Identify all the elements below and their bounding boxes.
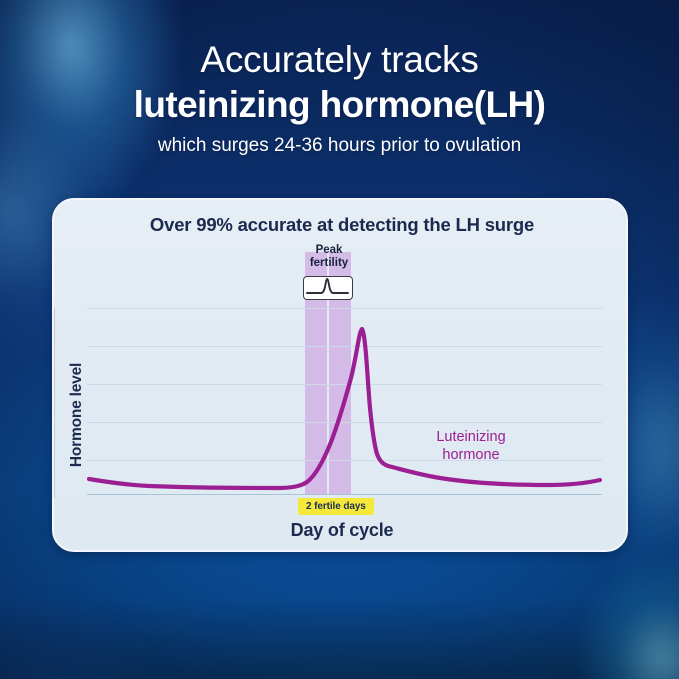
headline-subtext: which surges 24-36 hours prior to ovulat… bbox=[0, 133, 679, 159]
luteinizing-hormone-curve bbox=[87, 308, 602, 498]
y-axis-line bbox=[54, 308, 55, 498]
chart-title: Over 99% accurate at detecting the LH su… bbox=[54, 214, 628, 236]
peak-fertility-label: Peak fertility bbox=[259, 244, 399, 269]
series-label-line1: Luteinizing bbox=[436, 429, 505, 445]
x-axis-label: Day of cycle bbox=[54, 520, 628, 541]
infographic-canvas: Accurately tracks luteinizing hormone(LH… bbox=[0, 0, 679, 679]
headline-block: Accurately tracks luteinizing hormone(LH… bbox=[0, 38, 679, 159]
y-axis-label: Hormone level bbox=[68, 330, 88, 500]
fertile-days-badge: 2 fertile days bbox=[298, 498, 374, 515]
peak-fertility-label-line2: fertility bbox=[310, 257, 348, 269]
chart-card: Over 99% accurate at detecting the LH su… bbox=[52, 198, 628, 552]
lh-test-strip-icon bbox=[303, 276, 353, 300]
headline-line-1: Accurately tracks bbox=[0, 38, 679, 82]
peak-fertility-label-line1: Peak bbox=[316, 244, 343, 256]
headline-line-2: luteinizing hormone(LH) bbox=[0, 82, 679, 128]
series-label-luteinizing-hormone: Luteinizing hormone bbox=[406, 428, 536, 464]
series-label-line2: hormone bbox=[442, 447, 499, 463]
